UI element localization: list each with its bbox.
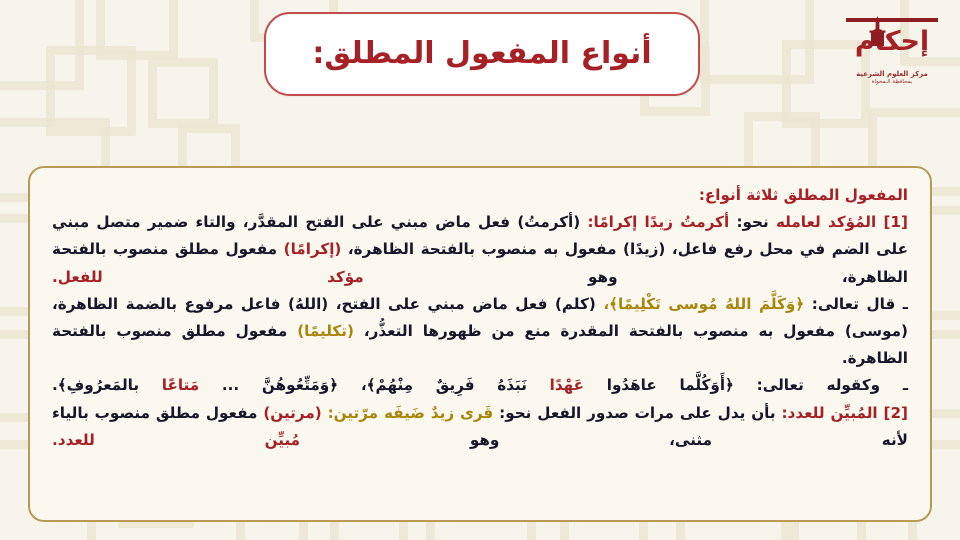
item2-paragraph: [2] المُبيِّن للعدد: بأن يدل على مرات صد…: [52, 400, 908, 454]
content-heading-line: المفعول المطلق ثلاثة أنواع:: [52, 182, 908, 209]
item2-example: قَرى زيدٌ ضَيفَه مرّتين:: [328, 404, 494, 422]
item1-token-b: (زيدًا): [623, 240, 665, 258]
mosque-minaret-icon: [869, 16, 886, 46]
quran-analysis-c: مفعول به منصوب بالفتحة المقدرة منع من ظه…: [364, 322, 835, 340]
item1-term: المُؤكد لعامله: [776, 213, 876, 231]
item1-nahw-label: نحو:: [736, 213, 768, 231]
quran-analysis-b: فاعل مرفوع بالضمة الظاهرة،: [52, 295, 280, 313]
lesson-body: المفعول المطلق ثلاثة أنواع: [1] المُؤكد …: [52, 182, 908, 454]
quran2-verse-a-highlight: عَهْدًا: [550, 376, 584, 394]
item2-token: (مرتين): [263, 404, 321, 422]
item2-analysis-emphasis: مُبيِّن للعدد.: [52, 431, 300, 449]
item1-quran2-paragraph: ـ وكقوله تعالى: ﴿أَوَكُلَّما عاهَدُوا عَ…: [52, 372, 908, 399]
logo-subtitle-small: بمحافظة الـمخواة: [838, 79, 946, 86]
quran-token-a: (كلم): [555, 295, 596, 313]
quran-verse: ﴿وَكَلَّمَ اللهُ مُوسى تَكْلِيمًا﴾،: [603, 295, 804, 313]
quran-token-d: (تكليمًا): [297, 322, 354, 340]
item1-example: أكرمتُ زيدًا إكرامًا:: [587, 213, 729, 231]
item2-definition: بأن يدل على مرات صدور الفعل نحو:: [499, 404, 775, 422]
quran2-verse-b-highlight: مَتاعًا: [162, 376, 199, 394]
item1-token-a: (أكرمتُ): [517, 213, 580, 231]
logo-mark: إحكام: [840, 14, 944, 70]
item2-marker: [2]: [884, 404, 908, 422]
logo-subtitle: مركز العلوم الشرعية: [838, 70, 946, 79]
item2-term: المُبيِّن للعدد:: [781, 404, 877, 422]
content-card: المفعول المطلق ثلاثة أنواع: [1] المُؤكد …: [28, 166, 932, 522]
quran2-lead: ـ وكقوله تعالى:: [757, 376, 908, 394]
item1-token-c: (إكرامًا): [284, 240, 342, 258]
item1-quran-paragraph: ـ قال تعالى: ﴿وَكَلَّمَ اللهُ مُوسى تَكْ…: [52, 291, 908, 373]
quran-lead: ـ قال تعالى:: [812, 295, 908, 313]
item1-paragraph: [1] المُؤكد لعامله نحو: أكرمتُ زيدًا إكر…: [52, 209, 908, 291]
brand-logo: إحكام مركز العلوم الشرعية بمحافظة الـمخو…: [838, 14, 946, 100]
slide-title-pill: أنواع المفعول المطلق:: [264, 12, 700, 96]
quran2-verse-b-pre: ﴿وَمَتِّعُوهُنَّ ...: [222, 376, 338, 394]
item1-analysis-b: مفعول به منصوب بالفتحة الظاهرة،: [348, 240, 617, 258]
quran-analysis-a: فعل ماض مبني على الفتح،: [336, 295, 548, 313]
logo-wordmark: إحكام: [840, 14, 944, 70]
logo-top-bar: [846, 18, 938, 22]
item1-analysis-c-emphasis: مؤكد للفعل.: [52, 268, 364, 286]
quran2-verse-b-post: بالمَعرُوفِ﴾.: [52, 376, 139, 394]
quran2-verse-a-post: نَبَذَهُ فَرِيقٌ مِنْهُمْ﴾،: [361, 376, 527, 394]
quran-token-b: (اللهُ): [288, 295, 328, 313]
page-title: أنواع المفعول المطلق:: [312, 39, 651, 69]
quran-token-c: (موسى): [845, 322, 908, 340]
quran2-verse-a-pre: ﴿أَوَكُلَّما عاهَدُوا: [607, 376, 734, 394]
content-heading: المفعول المطلق ثلاثة أنواع:: [699, 186, 908, 204]
item1-marker: [1]: [883, 213, 907, 231]
